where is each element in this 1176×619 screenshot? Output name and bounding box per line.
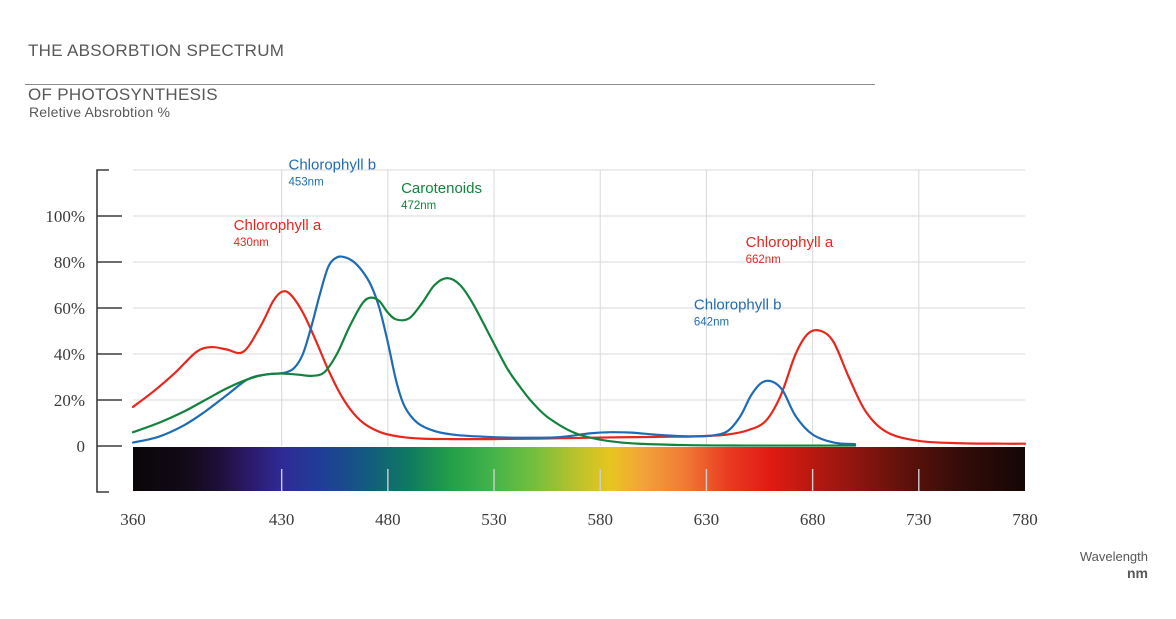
series-annotation-wavelength: 472nm: [401, 200, 436, 212]
y-tick-label: 60%: [54, 299, 85, 318]
x-tick-label: 730: [906, 510, 932, 529]
series-annotation-wavelength: 453nm: [289, 176, 324, 188]
y-tick-label: 80%: [54, 253, 85, 272]
series-annotation-wavelength: 430nm: [234, 237, 269, 249]
x-tick-label: 780: [1012, 510, 1038, 529]
series-annotation-name: Chlorophyll a: [746, 234, 834, 251]
y-tick-label: 0: [77, 437, 86, 456]
y-tick-label: 100%: [45, 207, 85, 226]
x-tick-label: 480: [375, 510, 401, 529]
x-axis-caption-unit: nm: [1080, 565, 1148, 582]
y-axis-spine: [97, 170, 109, 492]
x-tick-label: 360: [120, 510, 146, 529]
series-annotation-name: Carotenoids: [401, 180, 482, 197]
series-annotation-name: Chlorophyll a: [234, 217, 322, 234]
chart-page: THE ABSORBTION SPECTRUM OF PHOTOSYNTHESI…: [0, 0, 1176, 619]
x-tick-label: 680: [800, 510, 826, 529]
x-tick-label: 580: [587, 510, 613, 529]
y-tick-label: 20%: [54, 391, 85, 410]
spectrum-bar-layer: [133, 447, 1025, 491]
x-tick-label: 530: [481, 510, 507, 529]
series-annotation-wavelength: 662nm: [746, 254, 781, 266]
x-axis-caption-name: Wavelength: [1080, 549, 1148, 564]
grid-layer: [133, 170, 1025, 446]
x-tick-label: 630: [694, 510, 720, 529]
x-tick-label: 430: [269, 510, 295, 529]
series-annotation-name: Chlorophyll b: [694, 297, 782, 314]
axis-layer: [97, 170, 122, 492]
chart-svg: 020%40%60%80%100%36043048053058063068073…: [0, 0, 1176, 619]
series-annotation-name: Chlorophyll b: [289, 156, 377, 173]
absorption-spectrum-chart: 020%40%60%80%100%36043048053058063068073…: [0, 0, 1176, 619]
x-axis-caption: Wavelength nm: [1080, 548, 1148, 582]
spectrum-color-bar: [133, 447, 1025, 491]
y-tick-label: 40%: [54, 345, 85, 364]
series-annotation-wavelength: 642nm: [694, 317, 729, 329]
